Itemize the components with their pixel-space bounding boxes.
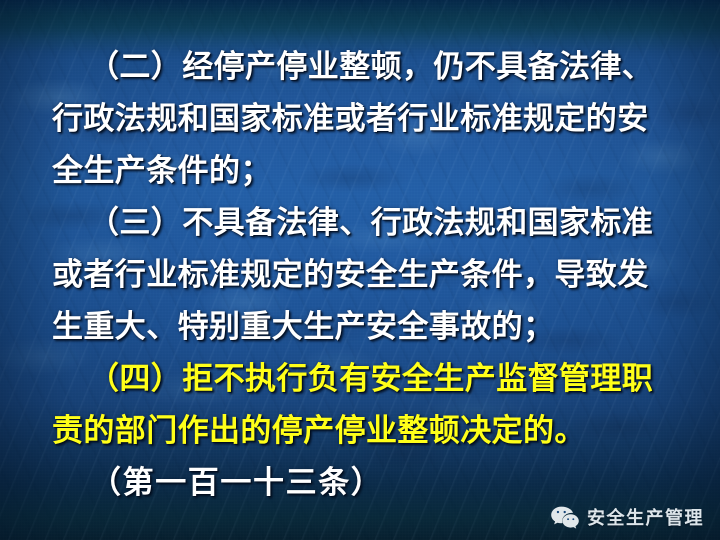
- wechat-icon: [550, 505, 580, 529]
- watermark-label: 安全生产管理: [587, 504, 704, 530]
- clause-4-paragraph-highlighted: （四）拒不执行负有安全生产监督管理职责的部门作出的停产停业整顿决定的。: [52, 353, 676, 457]
- clause-3-paragraph: （三）不具备法律、行政法规和国家标准或者行业标准规定的安全生产条件，导致发生重大…: [52, 197, 676, 353]
- watermark: 安全生产管理: [550, 504, 704, 530]
- clause-2-paragraph: （二）经停产停业整顿，仍不具备法律、行政法规和国家标准或者行业标准规定的安全生产…: [52, 41, 676, 197]
- article-reference-line: （第一百一十三条）: [52, 457, 676, 509]
- presentation-slide: （二）经停产停业整顿，仍不具备法律、行政法规和国家标准或者行业标准规定的安全生产…: [0, 0, 720, 540]
- slide-content: （二）经停产停业整顿，仍不具备法律、行政法规和国家标准或者行业标准规定的安全生产…: [0, 0, 720, 540]
